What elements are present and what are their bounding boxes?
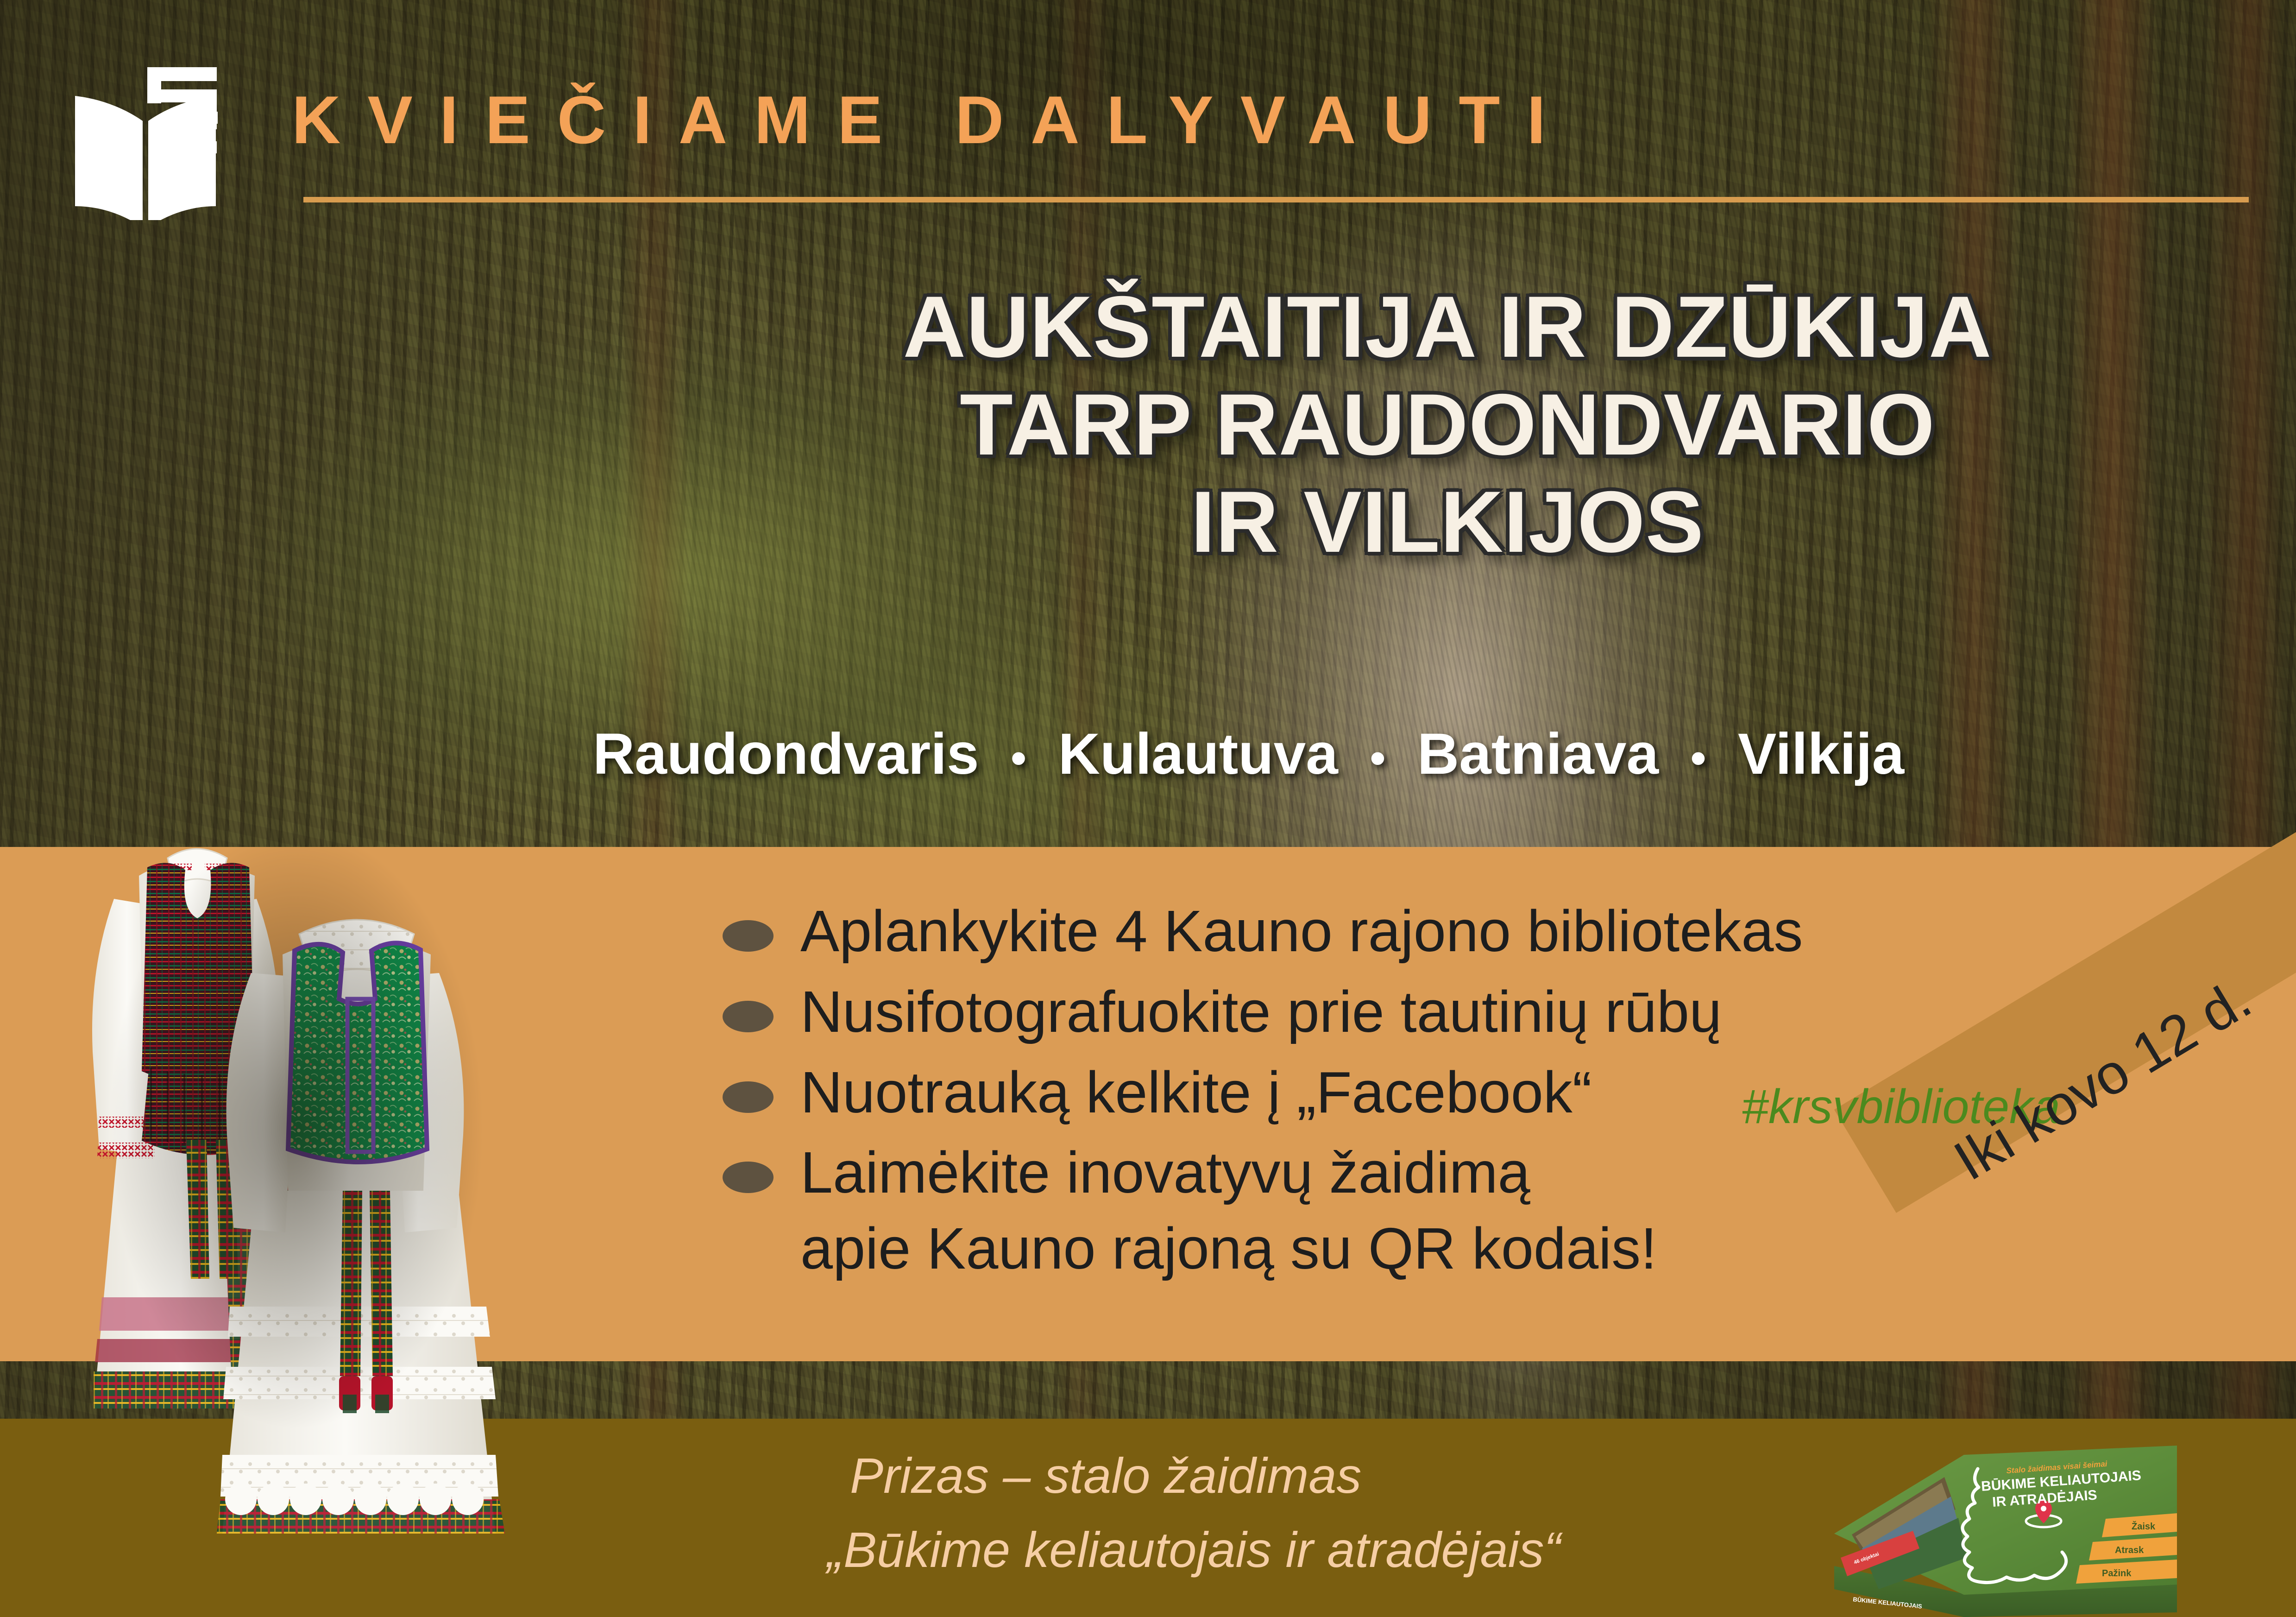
headline-line-2: TARP RAUDONDVARIO (648, 376, 2246, 474)
eyebrow-text: KVIEČIAME DALYVAUTI (292, 81, 1573, 159)
page-title: AUKŠTAITIJA IR DZŪKIJA TARP RAUDONDVARIO… (648, 278, 2246, 571)
town-kulautuva: Kulautuva (1058, 722, 1338, 786)
game-box-tab-atrask: Atrask (2115, 1545, 2144, 1555)
bullet-dot-icon (723, 1001, 774, 1032)
list-item: Nusifotografuokite prie tautinių rūbų (723, 974, 2158, 1050)
game-box-photo: 46 objektai Stalo žaidimas visai šeimai … (1834, 1427, 2177, 1617)
header-rule (303, 197, 2249, 202)
bullet-separator-icon: • (1691, 733, 1706, 784)
town-list: Raudondvaris • Kulautuva • Batniava • Vi… (593, 721, 2260, 787)
list-item-label: Aplankykite 4 Kauno rajono bibliotekas (800, 893, 1803, 969)
bullet-dot-icon (723, 1162, 774, 1193)
list-item-label-line2: apie Kauno rajoną su QR kodais! (800, 1211, 1657, 1287)
header: KVIEČIAME DALYVAUTI (0, 56, 2296, 208)
prize-text: Prizas – stalo žaidimas „Būkime keliauto… (850, 1439, 1915, 1587)
bullet-dot-icon (723, 1081, 774, 1113)
town-vilkija: Vilkija (1738, 722, 1904, 786)
town-batniava: Batniava (1417, 722, 1659, 786)
game-box-tab-pazink: Pažink (2102, 1568, 2132, 1579)
headline-line-1: AUKŠTAITIJA IR DZŪKIJA (648, 278, 2246, 376)
list-item-label-group: Laimėkite inovatyvų žaidimą apie Kauno r… (800, 1135, 1657, 1287)
list-item: Aplankykite 4 Kauno rajono bibliotekas (723, 893, 2158, 969)
costume-shadow (19, 700, 574, 1557)
poster-root: KVIEČIAME DALYVAUTI AUKŠTAITIJA IR DZŪKI… (0, 0, 2296, 1617)
bullet-dot-icon (723, 920, 774, 952)
prize-line-2: „Būkime keliautojais ir atradėjais“ (827, 1513, 1915, 1587)
list-item-label-line1: Laimėkite inovatyvų žaidimą (800, 1135, 1657, 1211)
folk-costumes-photo (69, 658, 653, 1571)
headline-line-3: IR VILKIJOS (648, 473, 2246, 571)
list-item-label: Nusifotografuokite prie tautinių rūbų (800, 974, 1722, 1050)
bullet-separator-icon: • (1370, 733, 1386, 784)
list-item-label: Nuotrauką kelkite į „Facebook“ (800, 1055, 1592, 1131)
prize-line-1: Prizas – stalo žaidimas (850, 1439, 1915, 1513)
open-book-library-logo (69, 67, 227, 220)
bullet-separator-icon: • (1011, 733, 1026, 784)
game-box-tab-zaisk: Žaisk (2132, 1521, 2156, 1532)
